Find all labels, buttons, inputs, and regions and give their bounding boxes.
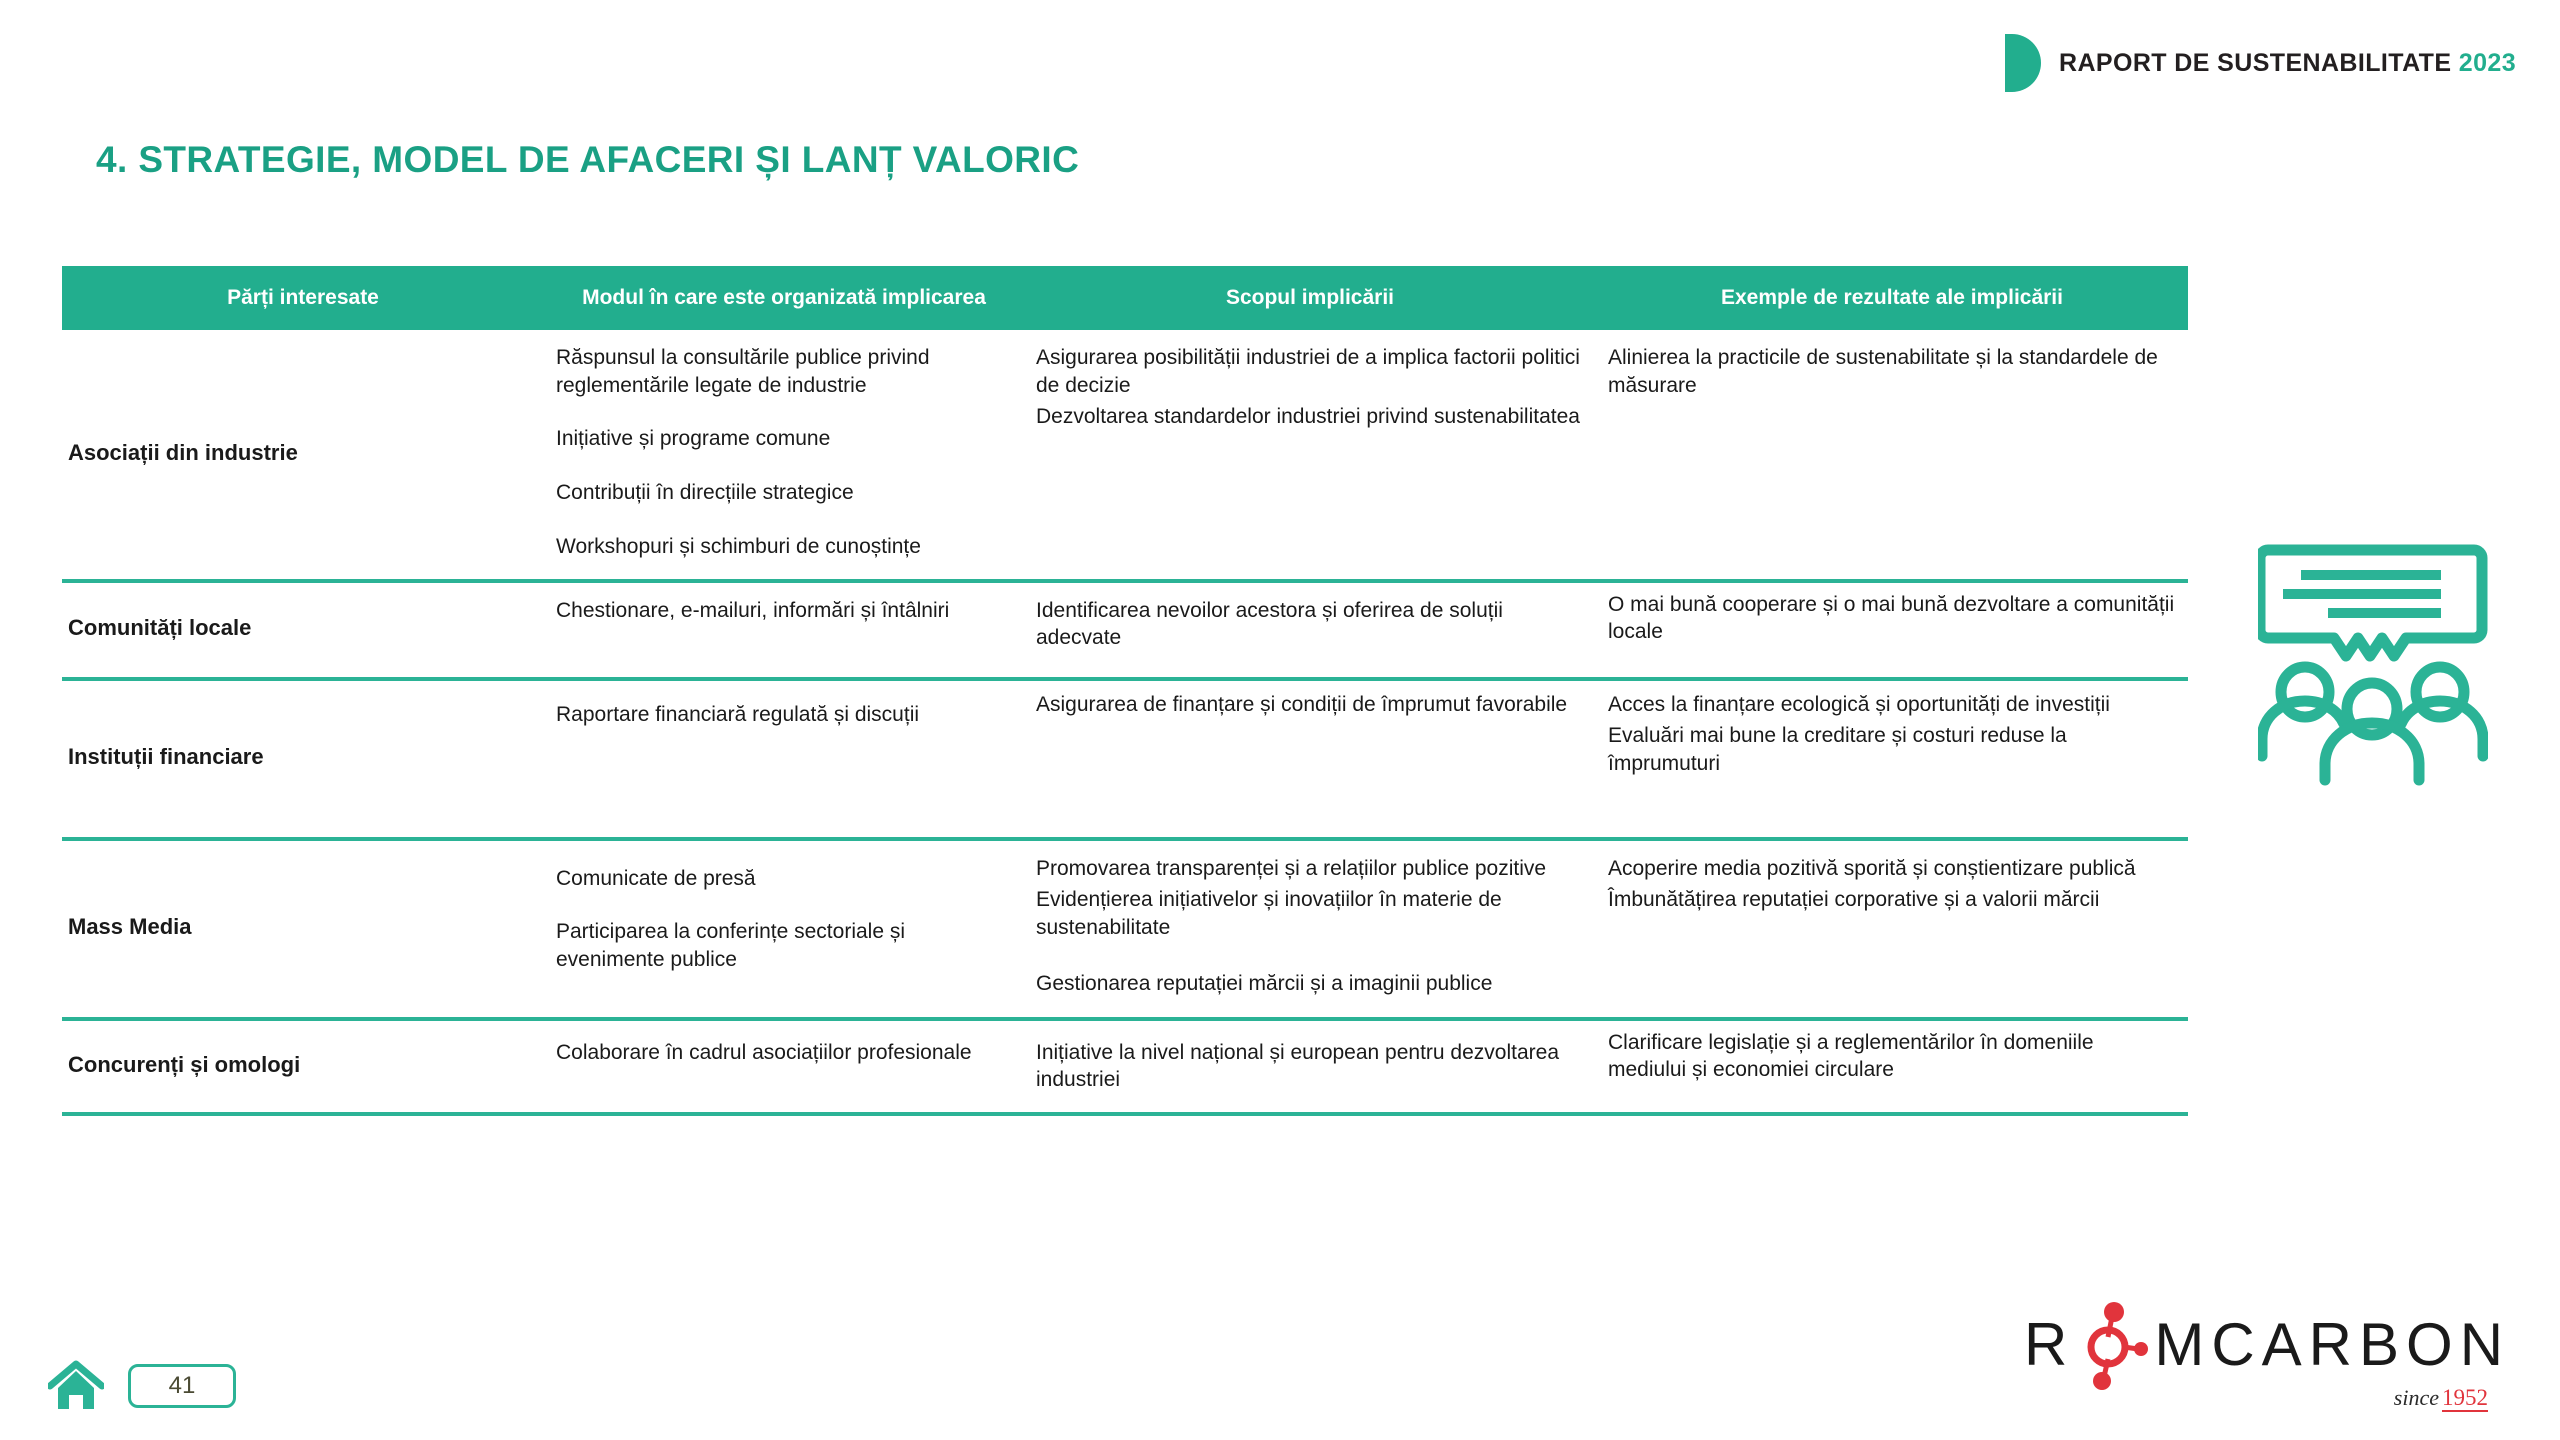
outcome-item: Alinierea la practicile de sustenabilita…: [1608, 344, 2176, 399]
purpose-item: Gestionarea reputației mărcii și a imagi…: [1036, 970, 1584, 998]
cell-purpose: Asigurarea de finanțare și condiții de î…: [1024, 681, 1596, 837]
report-header-text: RAPORT DE SUSTENABILITATE 2023: [2059, 51, 2516, 76]
cell-stakeholder: Comunități locale: [62, 583, 544, 677]
table-row: Mass Media Comunicate de presă Participa…: [62, 841, 2188, 1021]
outcome-item: Evaluări mai bune la creditare și costur…: [1608, 722, 2176, 777]
table-row: Concurenți și omologi Colaborare în cadr…: [62, 1021, 2188, 1116]
engagement-item: Răspunsul la consultările publice privin…: [556, 344, 1012, 399]
outcome-item: Acces la finanțare ecologică și oportuni…: [1608, 691, 2176, 719]
outcome-item: Acoperire media pozitivă sporită și conș…: [1608, 855, 2176, 883]
cell-purpose: Asigurarea posibilității industriei de a…: [1024, 330, 1596, 579]
cell-outcomes: O mai bună cooperare și o mai bună dezvo…: [1596, 583, 2188, 677]
cell-outcomes: Acces la finanțare ecologică și oportuni…: [1596, 681, 2188, 837]
engagement-item: Inițiative și programe comune: [556, 425, 1012, 453]
cell-purpose: Inițiative la nivel național și european…: [1024, 1021, 1596, 1112]
slide-page: RAPORT DE SUSTENABILITATE 2023 4. STRATE…: [0, 0, 2560, 1440]
half-disc-mark-icon: [2005, 34, 2041, 92]
purpose-item: Dezvoltarea standardelor industriei priv…: [1036, 403, 1584, 431]
brand-wordmark: R MCARBON: [2024, 1312, 2510, 1378]
outcome-item: Îmbunătățirea reputației corporative și …: [1608, 886, 2176, 914]
column-header-engagement: Modul în care este organizată implicarea: [544, 279, 1024, 318]
cell-outcomes: Clarificare legislație și a reglementări…: [1596, 1021, 2188, 1112]
report-title: RAPORT DE SUSTENABILITATE: [2059, 49, 2451, 77]
molecule-o-icon: [2078, 1297, 2152, 1393]
brand-suffix: MCARBON: [2154, 1315, 2510, 1375]
home-icon[interactable]: [48, 1360, 104, 1412]
since-year: 1952: [2442, 1386, 2488, 1412]
purpose-item: Asigurarea posibilității industriei de a…: [1036, 344, 1584, 399]
stakeholder-engagement-icon: [2258, 534, 2488, 786]
romcarbon-logo: R MCARBON since 1952: [2024, 1306, 2494, 1418]
column-header-purpose: Scopul implicării: [1024, 279, 1596, 318]
column-header-outcomes: Exemple de rezultate ale implicării: [1596, 279, 2188, 318]
engagement-item: Colaborare în cadrul asociațiilor profes…: [556, 1039, 1012, 1067]
cell-purpose: Identificarea nevoilor acestora și oferi…: [1024, 583, 1596, 677]
engagement-item: Workshopuri și schimburi de cunoștințe: [556, 533, 1012, 561]
cell-stakeholder: Concurenți și omologi: [62, 1021, 544, 1112]
engagement-item: Raportare financiară regulată și discuți…: [556, 701, 1012, 729]
engagement-item: Participarea la conferințe sectoriale și…: [556, 918, 1012, 973]
purpose-item: Promovarea transparenței și a relațiilor…: [1036, 855, 1584, 883]
brand-tagline: since 1952: [2394, 1385, 2488, 1412]
cell-outcomes: Alinierea la practicile de sustenabilita…: [1596, 330, 2188, 579]
cell-stakeholder: Instituții financiare: [62, 681, 544, 837]
cell-outcomes: Acoperire media pozitivă sporită și conș…: [1596, 841, 2188, 1017]
cell-purpose: Promovarea transparenței și a relațiilor…: [1024, 841, 1596, 1017]
since-word: since: [2394, 1385, 2439, 1411]
report-header: RAPORT DE SUSTENABILITATE 2023: [2005, 34, 2516, 92]
page-title: 4. STRATEGIE, MODEL DE AFACERI ȘI LANȚ V…: [96, 139, 1079, 181]
cell-engagement: Chestionare, e-mailuri, informări și înt…: [544, 583, 1024, 677]
cell-engagement: Comunicate de presă Participarea la conf…: [544, 841, 1024, 1017]
cell-engagement: Raportare financiară regulată și discuți…: [544, 681, 1024, 837]
cell-engagement: Răspunsul la consultările publice privin…: [544, 330, 1024, 579]
cell-engagement: Colaborare în cadrul asociațiilor profes…: [544, 1021, 1024, 1112]
purpose-item: Identificarea nevoilor acestora și oferi…: [1036, 597, 1584, 652]
column-header-stakeholders: Părți interesate: [62, 279, 544, 318]
report-year: 2023: [2459, 49, 2516, 77]
table-row: Asociații din industrie Răspunsul la con…: [62, 330, 2188, 583]
outcome-item: Clarificare legislație și a reglementări…: [1608, 1029, 2176, 1084]
page-number: 41: [169, 1372, 196, 1400]
engagement-item: Chestionare, e-mailuri, informări și înt…: [556, 597, 1012, 625]
purpose-item: Evidențierea inițiativelor și inovațiilo…: [1036, 886, 1584, 941]
table-header-row: Părți interesate Modul în care este orga…: [62, 266, 2188, 330]
purpose-item: Inițiative la nivel național și european…: [1036, 1039, 1584, 1094]
engagement-item: Contribuții în direcțiile strategice: [556, 479, 1012, 507]
outcome-item: O mai bună cooperare și o mai bună dezvo…: [1608, 591, 2176, 646]
cell-stakeholder: Mass Media: [62, 841, 544, 1017]
page-number-box: 41: [128, 1364, 236, 1408]
table-row: Comunități locale Chestionare, e-mailuri…: [62, 583, 2188, 681]
cell-stakeholder: Asociații din industrie: [62, 330, 544, 579]
table-row: Instituții financiare Raportare financia…: [62, 681, 2188, 841]
stakeholder-engagement-table: Părți interesate Modul în care este orga…: [62, 266, 2188, 1116]
brand-prefix: R: [2024, 1315, 2074, 1375]
purpose-item: Asigurarea de finanțare și condiții de î…: [1036, 691, 1584, 719]
engagement-item: Comunicate de presă: [556, 865, 1012, 893]
